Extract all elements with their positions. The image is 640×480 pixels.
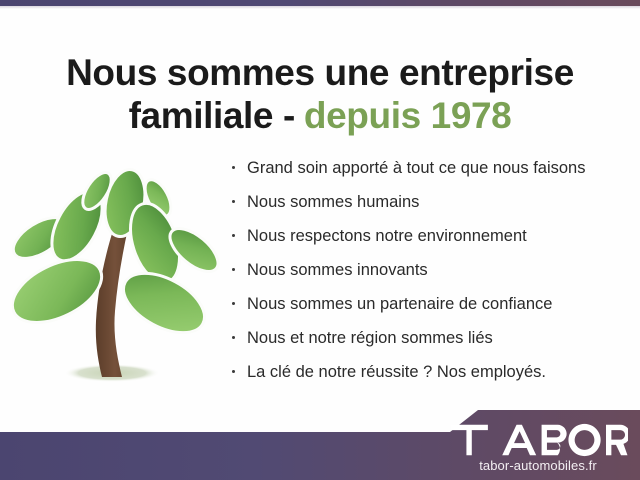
page-title-accent: depuis 1978: [304, 95, 511, 136]
list-item-label: Nous et notre région sommes liés: [247, 329, 493, 347]
list-item-label: Nous sommes humains: [247, 193, 419, 211]
bullet-dot-icon: [232, 234, 235, 237]
list-item: La clé de notre réussite ? Nos employés.: [231, 355, 631, 389]
list-item: Grand soin apporté à tout ce que nous fa…: [231, 151, 631, 185]
bullet-dot-icon: [232, 302, 235, 305]
list-item-label: Nous sommes innovants: [247, 261, 428, 279]
list-item-label: Nous sommes un partenaire de confiance: [247, 295, 552, 313]
brand-url[interactable]: tabor-automobiles.fr: [448, 458, 628, 474]
list-item-label: Grand soin apporté à tout ce que nous fa…: [247, 159, 585, 177]
bullet-dot-icon: [232, 166, 235, 169]
bullet-dot-icon: [232, 200, 235, 203]
list-item: Nous sommes innovants: [231, 253, 631, 287]
bullet-dot-icon: [232, 336, 235, 339]
brand-logo[interactable]: tabor-automobiles.fr: [448, 423, 628, 474]
bullet-dot-icon: [232, 268, 235, 271]
page-title-line-1: Nous sommes une entreprise: [66, 52, 574, 93]
page-title-line-2: familiale -depuis 1978: [0, 94, 640, 138]
list-item-label: La clé de notre réussite ? Nos employés.: [247, 363, 546, 381]
list-item: Nous respectons notre environnement: [231, 219, 631, 253]
list-item: Nous sommes humains: [231, 185, 631, 219]
footer-band: tabor-automobiles.fr: [0, 400, 640, 480]
page-title-line-2-black: familiale -: [129, 95, 295, 136]
slide-canvas: Nous sommes une entreprise familiale -de…: [0, 0, 640, 480]
list-item: Nous sommes un partenaire de confiance: [231, 287, 631, 321]
top-accent-bar-shadow: [0, 6, 640, 9]
value-proposition-list: Grand soin apporté à tout ce que nous fa…: [231, 151, 631, 389]
bullet-dot-icon: [232, 370, 235, 373]
page-title: Nous sommes une entreprise familiale -de…: [0, 51, 640, 138]
list-item-label: Nous respectons notre environnement: [247, 227, 527, 245]
tree-illustration: [12, 143, 224, 388]
tabor-wordmark-icon: [448, 423, 628, 457]
list-item: Nous et notre région sommes liés: [231, 321, 631, 355]
